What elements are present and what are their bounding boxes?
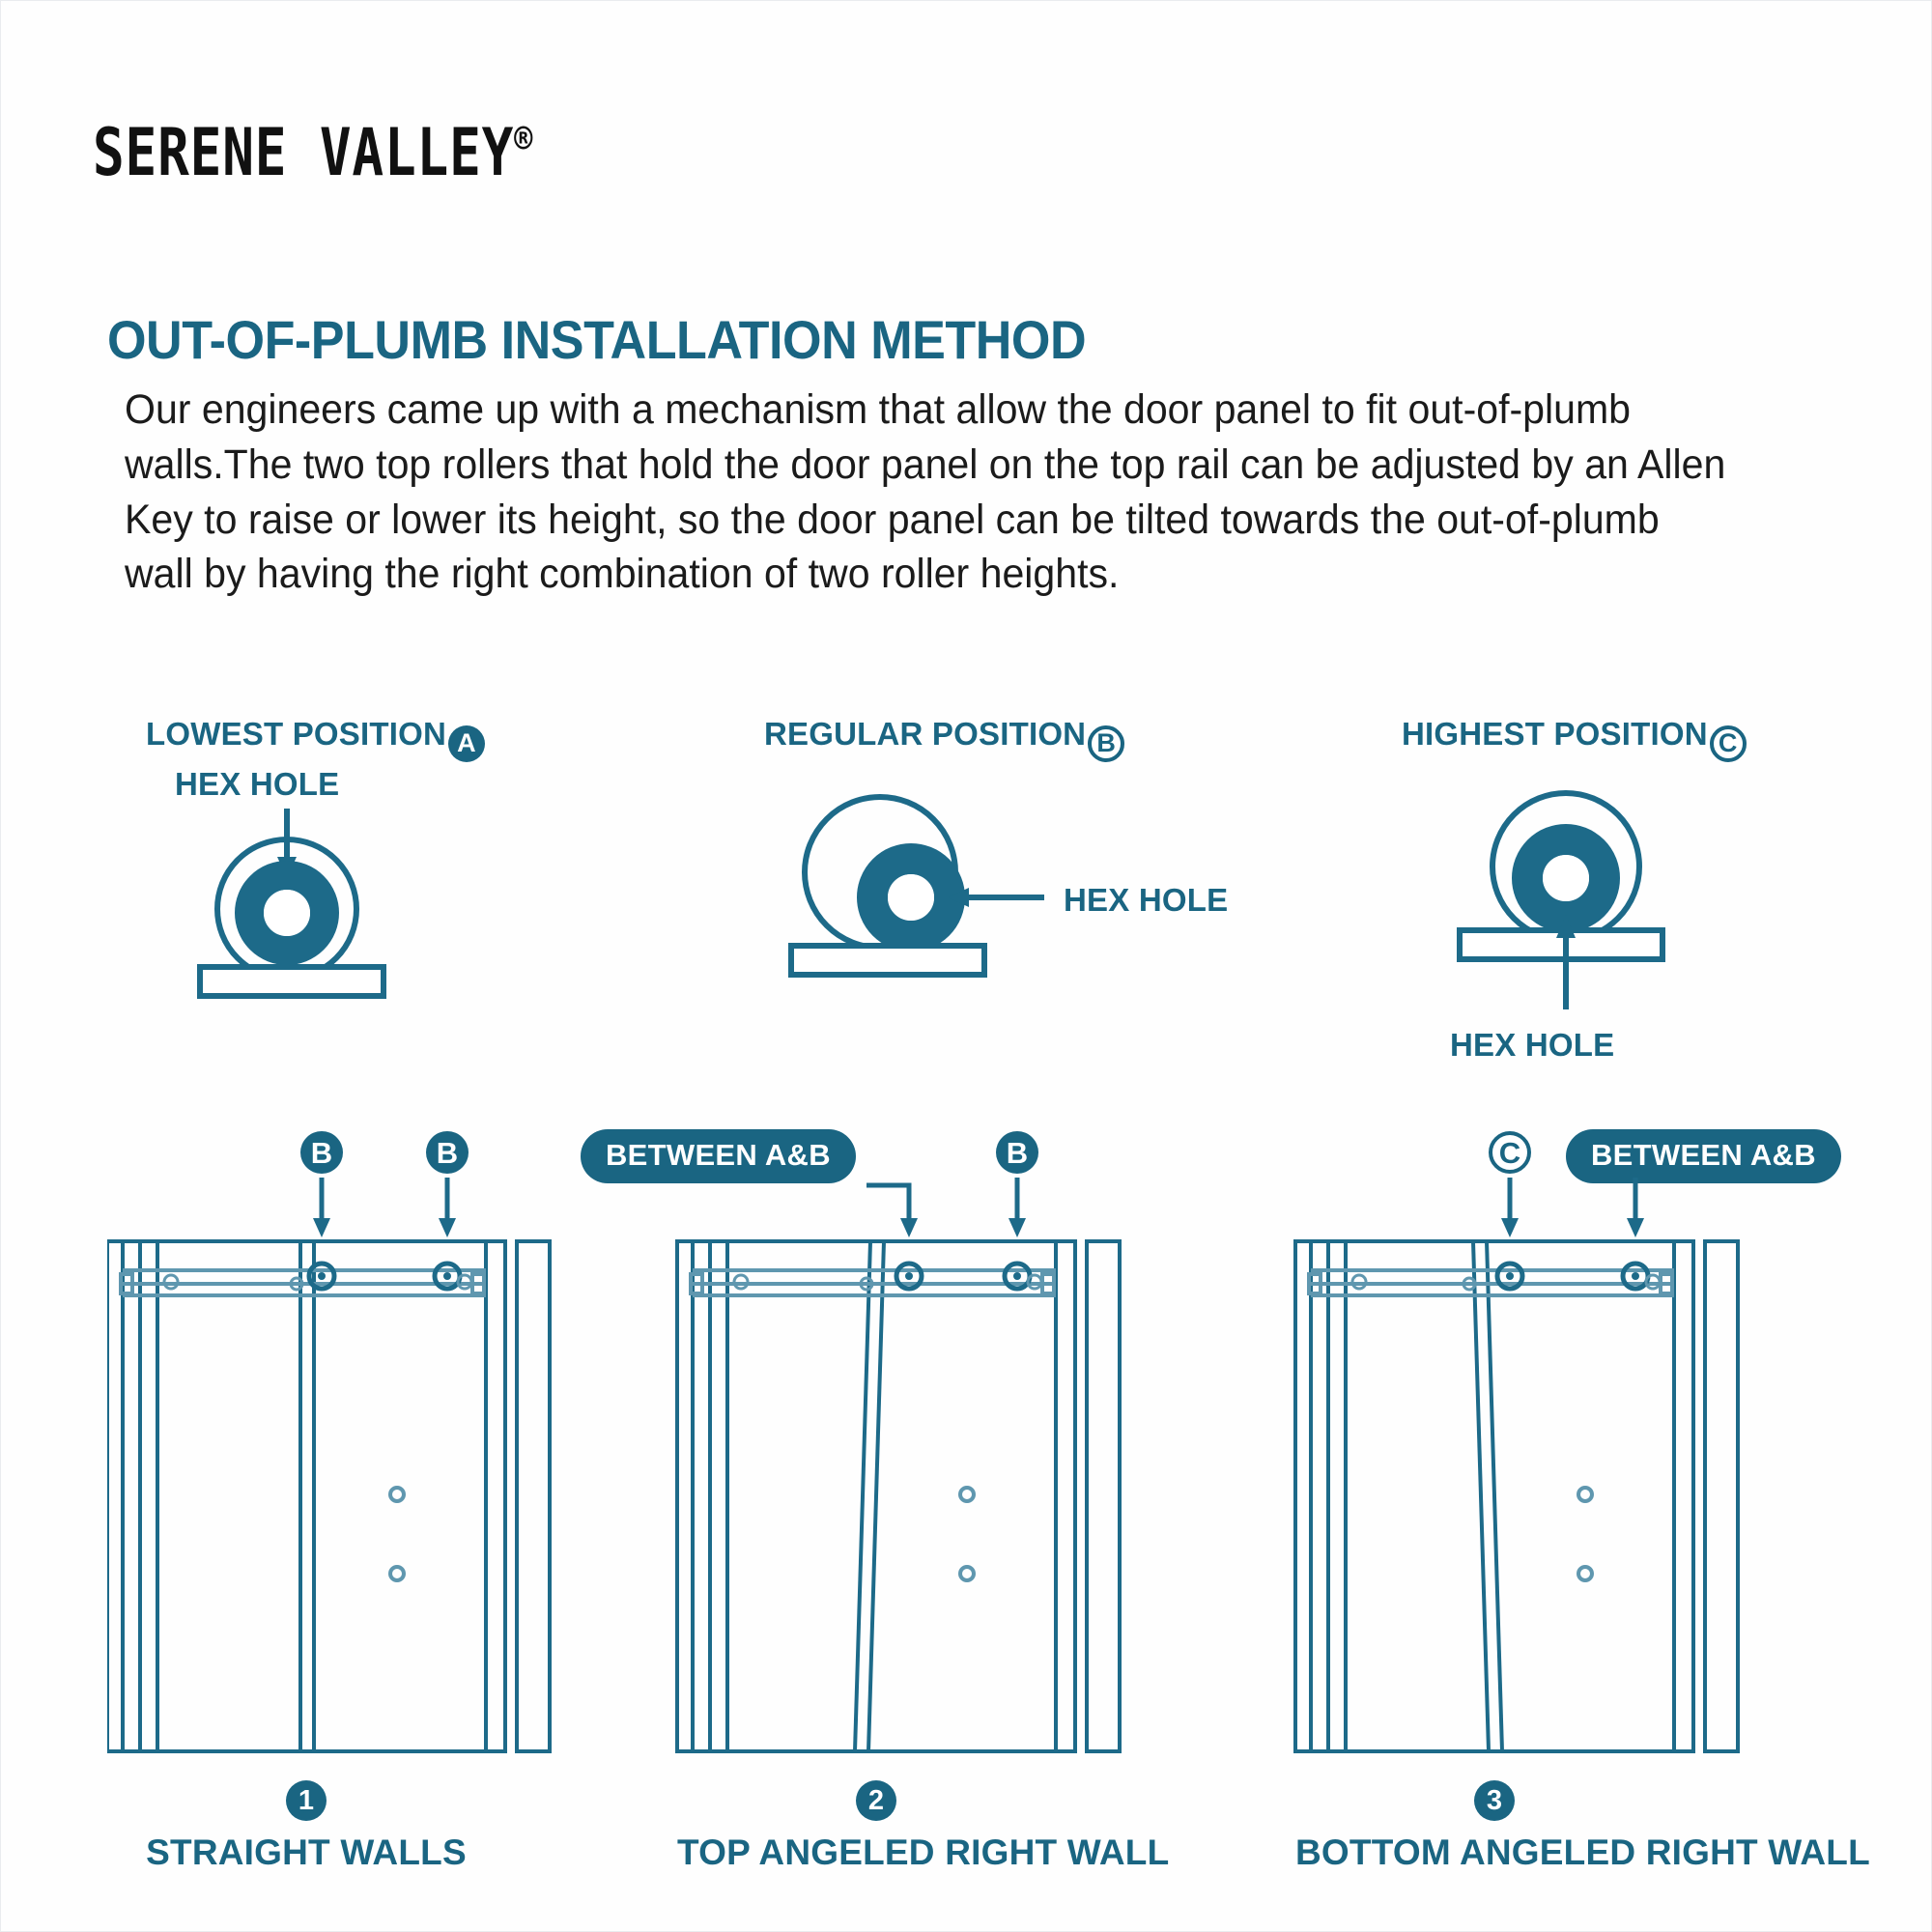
registered-trademark-icon: ® bbox=[514, 117, 532, 161]
roller-a-title-text: LOWEST POSITION bbox=[146, 716, 446, 752]
body-paragraph: Our engineers came up with a mechanism t… bbox=[125, 383, 1730, 602]
body-paragraph-text: Our engineers came up with a mechanism t… bbox=[125, 383, 1730, 602]
roller-diagram-b: REGULAR POSITIONB HEX HOLE bbox=[745, 716, 1286, 1044]
roller-c-badge: C bbox=[1710, 725, 1747, 762]
roller-a-hex-label: HEX HOLE bbox=[175, 766, 339, 803]
roller-c-title-text: HIGHEST POSITION bbox=[1402, 716, 1708, 752]
brand-name: SERENE VALLEY bbox=[93, 115, 514, 191]
roller-b-title: REGULAR POSITIONB bbox=[764, 716, 1124, 762]
roller-b-title-text: REGULAR POSITION bbox=[764, 716, 1086, 752]
roller-a-title: LOWEST POSITIONA bbox=[146, 716, 485, 762]
roller-c-illustration bbox=[1440, 774, 1749, 1044]
roller-diagram-a: LOWEST POSITIONA HEX HOLE bbox=[117, 716, 561, 1044]
brand-logo: SERENE VALLEY® bbox=[93, 115, 532, 191]
door-1-marker-right: B bbox=[426, 1131, 469, 1174]
roller-c-hex-label: HEX HOLE bbox=[1450, 1027, 1614, 1064]
door-diagram-1: B B bbox=[107, 1131, 648, 1865]
roller-a-illustration bbox=[156, 805, 445, 1027]
door-3-illustration bbox=[1083, 1176, 1856, 1775]
door-1-caption: STRAIGHT WALLS bbox=[107, 1833, 505, 1873]
door-3-marker-left: C bbox=[1489, 1131, 1531, 1174]
door-1-illustration bbox=[107, 1176, 648, 1775]
door-2-marker-right: B bbox=[996, 1131, 1038, 1174]
roller-c-title: HIGHEST POSITIONC bbox=[1402, 716, 1747, 762]
infographic-page: SERENE VALLEY® OUT-OF-PLUMB INSTALLATION… bbox=[0, 0, 1932, 1932]
roller-diagram-c: HIGHEST POSITIONC HEX HOLE bbox=[1382, 716, 1846, 1102]
door-diagram-3: C BETWEEN A&B bbox=[1083, 1131, 1856, 1865]
door-3-number: 3 bbox=[1474, 1780, 1515, 1821]
page-title: OUT-OF-PLUMB INSTALLATION METHOD bbox=[107, 308, 1086, 371]
door-2-number: 2 bbox=[856, 1780, 896, 1821]
door-1-number: 1 bbox=[286, 1780, 327, 1821]
door-3-caption: BOTTOM ANGELED RIGHT WALL bbox=[1295, 1833, 1693, 1873]
roller-a-badge: A bbox=[448, 725, 485, 762]
roller-b-hex-label: HEX HOLE bbox=[1064, 882, 1228, 919]
door-1-marker-left: B bbox=[300, 1131, 343, 1174]
door-2-caption: TOP ANGELED RIGHT WALL bbox=[677, 1833, 1075, 1873]
roller-b-badge: B bbox=[1088, 725, 1124, 762]
